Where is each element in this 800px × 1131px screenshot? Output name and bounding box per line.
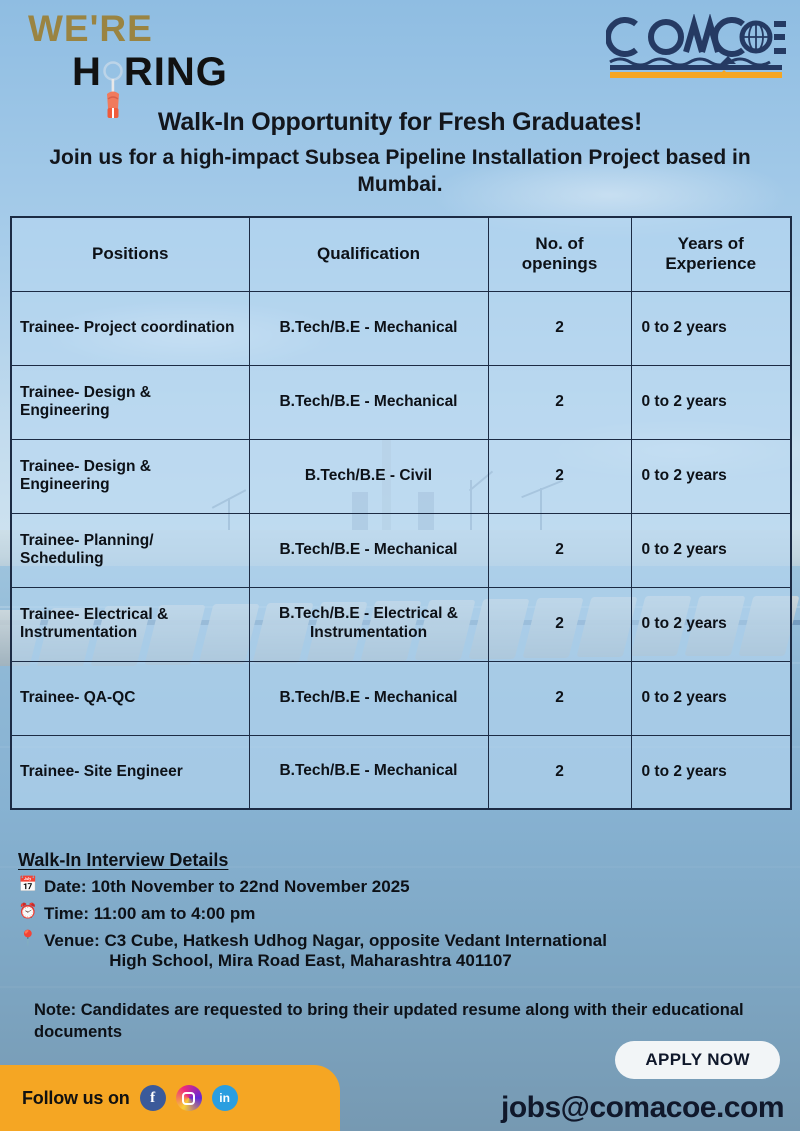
apply-now-button[interactable]: APPLY NOW (615, 1041, 780, 1079)
cell-qualification: B.Tech/B.E - Civil (249, 439, 488, 513)
detail-date-text: Date: 10th November to 22nd November 202… (44, 876, 410, 898)
cell-experience: 0 to 2 years (631, 735, 791, 809)
table-row: Trainee- Design & EngineeringB.Tech/B.E … (11, 439, 791, 513)
cell-position: Trainee- Project coordination (11, 291, 249, 365)
detail-time-text: Time: 11:00 am to 4:00 pm (44, 903, 255, 925)
linkedin-icon[interactable]: in (212, 1085, 238, 1111)
facebook-icon[interactable]: f (140, 1085, 166, 1111)
page-title: Walk-In Opportunity for Fresh Graduates! (0, 108, 800, 137)
cell-experience: 0 to 2 years (631, 513, 791, 587)
cell-experience: 0 to 2 years (631, 439, 791, 513)
contact-email[interactable]: jobs@comacoe.com (501, 1091, 784, 1125)
cell-experience: 0 to 2 years (631, 291, 791, 365)
cell-openings: 2 (488, 365, 631, 439)
table-header-row: Positions Qualification No. of openings … (11, 217, 791, 291)
cell-experience: 0 to 2 years (631, 587, 791, 661)
details-heading: Walk-In Interview Details (18, 850, 788, 871)
interview-details: Walk-In Interview Details 📅 Date: 10th N… (18, 850, 788, 971)
cell-openings: 2 (488, 661, 631, 735)
cell-qualification: B.Tech/B.E - Mechanical (249, 291, 488, 365)
table-body: Trainee- Project coordinationB.Tech/B.E … (11, 291, 791, 809)
cell-openings: 2 (488, 513, 631, 587)
detail-row-time: ⏰ Time: 11:00 am to 4:00 pm (18, 903, 788, 925)
page-subtitle: Join us for a high-impact Subsea Pipelin… (0, 144, 800, 199)
instagram-icon[interactable] (176, 1085, 202, 1111)
comacoe-logo (606, 14, 786, 84)
follow-us-label: Follow us on (22, 1088, 130, 1109)
cell-openings: 2 (488, 735, 631, 809)
table-row: Trainee- Project coordinationB.Tech/B.E … (11, 291, 791, 365)
table-row: Trainee- QA-QCB.Tech/B.E - Mechanical20 … (11, 661, 791, 735)
column-header-openings: No. of openings (488, 217, 631, 291)
cell-position: Trainee- Site Engineer (11, 735, 249, 809)
cell-openings: 2 (488, 291, 631, 365)
cell-position: Trainee- Electrical & Instrumentation (11, 587, 249, 661)
cell-position: Trainee- Design & Engineering (11, 439, 249, 513)
cell-position: Trainee- Planning/ Scheduling (11, 513, 249, 587)
location-pin-icon: 📍 (18, 930, 38, 949)
detail-venue-line1: Venue: C3 Cube, Hatkesh Udhog Nagar, opp… (44, 930, 607, 952)
table-row: Trainee- Electrical & InstrumentationB.T… (11, 587, 791, 661)
were-label: WE'RE (28, 8, 153, 50)
calendar-icon: 📅 (18, 876, 38, 895)
hiring-suffix: RING (124, 50, 228, 94)
cell-qualification: B.Tech/B.E - Mechanical (249, 365, 488, 439)
cell-openings: 2 (488, 439, 631, 513)
cell-qualification: B.Tech/B.E - Mechanical (249, 661, 488, 735)
hiring-label: HRING (72, 50, 228, 95)
column-header-qualification: Qualification (249, 217, 488, 291)
cell-qualification: B.Tech/B.E - Mechanical (249, 513, 488, 587)
poster-titles: Walk-In Opportunity for Fresh Graduates!… (0, 108, 800, 199)
hiring-prefix: H (72, 50, 102, 94)
cell-qualification: B.Tech/B.E - Electrical & Instrumentatio… (249, 587, 488, 661)
table-row: Trainee- Site EngineerB.Tech/B.E - Mecha… (11, 735, 791, 809)
cell-experience: 0 to 2 years (631, 365, 791, 439)
detail-venue-line2: High School, Mira Road East, Maharashtra… (44, 951, 607, 971)
cell-position: Trainee- QA-QC (11, 661, 249, 735)
cell-position: Trainee- Design & Engineering (11, 365, 249, 439)
cell-qualification: B.Tech/B.E - Mechanical (249, 735, 488, 809)
follow-us-bar: Follow us on f in (0, 1065, 340, 1131)
candidate-note: Note: Candidates are requested to bring … (34, 1000, 764, 1044)
table-row: Trainee- Design & EngineeringB.Tech/B.E … (11, 365, 791, 439)
openings-table: Positions Qualification No. of openings … (10, 216, 792, 810)
cell-experience: 0 to 2 years (631, 661, 791, 735)
detail-row-venue: 📍 Venue: C3 Cube, Hatkesh Udhog Nagar, o… (18, 930, 788, 972)
poster-header: WE'RE HRING (0, 0, 800, 105)
column-header-positions: Positions (11, 217, 249, 291)
table-row: Trainee- Planning/ SchedulingB.Tech/B.E … (11, 513, 791, 587)
clock-icon: ⏰ (18, 903, 38, 922)
column-header-experience: Years of Experience (631, 217, 791, 291)
detail-row-date: 📅 Date: 10th November to 22nd November 2… (18, 876, 788, 898)
cell-openings: 2 (488, 587, 631, 661)
